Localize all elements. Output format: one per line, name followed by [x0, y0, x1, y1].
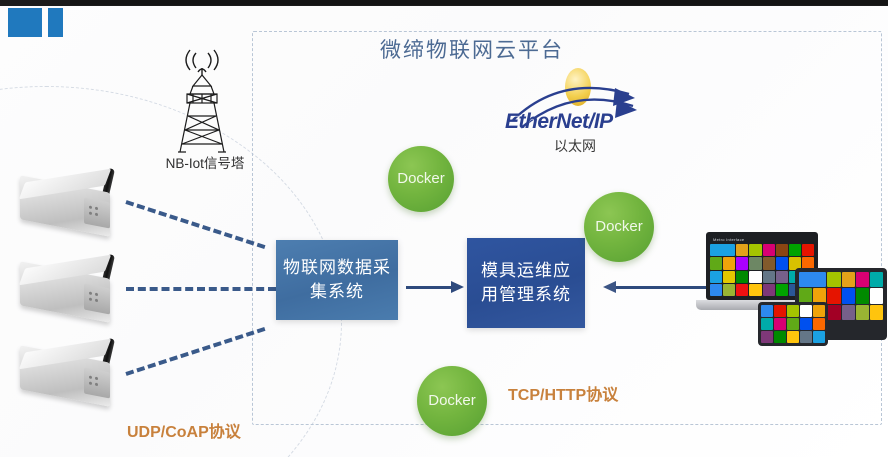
docker-label: Docker [397, 170, 445, 189]
iot-gateway-3 [18, 340, 130, 410]
protocol-label-downlink: TCP/HTTP协议 [508, 381, 618, 405]
vmes-logo [8, 8, 70, 38]
docker-node-2[interactable]: Docker [584, 192, 654, 262]
process-box-data-collection[interactable]: 物联网数据采集系统 [276, 240, 398, 320]
page-title: 微缔物联网云平台 [252, 34, 692, 64]
tower-label: NB-Iot信号塔 [140, 152, 270, 172]
phone-tiles [761, 305, 825, 343]
iot-gateway-1 [18, 170, 130, 240]
signal-tower-icon [160, 44, 244, 154]
logo-block-large [8, 8, 42, 37]
process-box-label: 模具运维应用管理系统 [467, 259, 585, 307]
docker-node-3[interactable]: Docker [417, 366, 487, 436]
gateway-panel [84, 367, 110, 398]
docker-node-1[interactable]: Docker [388, 146, 454, 212]
docker-label: Docker [595, 218, 643, 237]
iot-gateway-2 [18, 256, 130, 326]
docker-label: Docker [428, 392, 476, 411]
protocol-label-uplink: UDP/CoAP协议 [127, 418, 241, 442]
phone-icon [758, 302, 828, 346]
ethernet-ip-wordmark: EtherNet/IP [505, 110, 623, 134]
gateway-panel [84, 283, 110, 314]
top-strip-right [70, 0, 888, 5]
process-box-ops-management[interactable]: 模具运维应用管理系统 [467, 238, 585, 328]
uplink-dashed-line-2 [126, 287, 276, 291]
diagram-canvas: 微缔物联网云平台 NB-Iot信号塔 [0, 0, 888, 457]
windows-devices: Metro Interface [700, 232, 885, 347]
laptop-screen-header: Metro Interface [713, 237, 744, 242]
process-box-label: 物联网数据采集系统 [276, 256, 398, 304]
gateway-panel [84, 197, 110, 228]
ethernet-ip-logo: EtherNet/IP 以太网 [505, 66, 645, 154]
ethernet-ip-subtitle: 以太网 [505, 136, 645, 156]
logo-block-small [48, 8, 63, 37]
